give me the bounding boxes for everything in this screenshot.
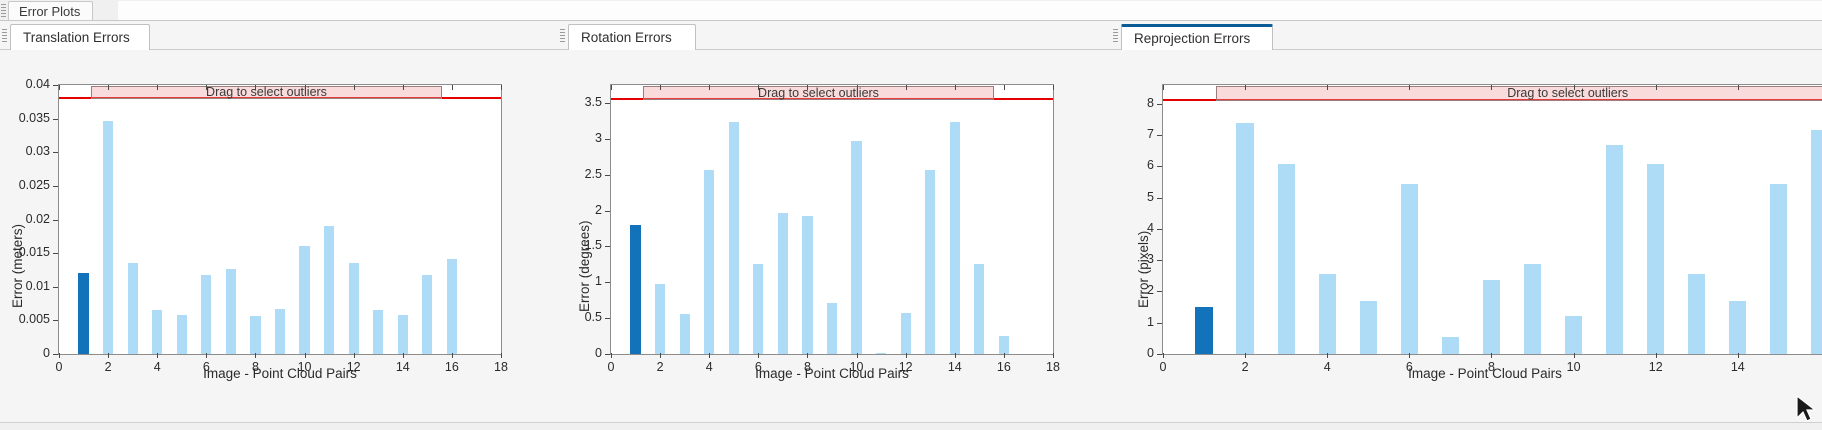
y-tick-mark xyxy=(605,175,610,176)
y-tick-mark xyxy=(1157,291,1162,292)
y-tick-mark xyxy=(53,253,58,254)
y-tick-label: 0 xyxy=(2,346,50,360)
y-tick-mark xyxy=(605,354,610,355)
x-tick-mark xyxy=(501,353,502,358)
y-tick-label: 1 xyxy=(1106,315,1154,329)
bar[interactable] xyxy=(177,315,187,354)
bar[interactable] xyxy=(1483,280,1500,354)
panel-translation-errors: Translation Errors Error (meters) Drag t… xyxy=(0,21,551,430)
tab-rotation-errors[interactable]: Rotation Errors xyxy=(568,24,696,50)
x-tick-mark xyxy=(857,353,858,358)
x-tick-mark-top xyxy=(1738,85,1739,90)
x-tick-mark xyxy=(59,353,60,358)
x-tick-mark-top xyxy=(1656,85,1657,90)
x-tick-mark-top xyxy=(1409,85,1410,90)
y-tick-label: 5 xyxy=(1106,190,1154,204)
plot-axes[interactable]: Drag to select outliers xyxy=(58,84,502,355)
x-tick-mark xyxy=(758,353,759,358)
y-tick-mark xyxy=(605,318,610,319)
bar[interactable] xyxy=(802,216,812,354)
plot-bars-area[interactable]: Drag to select outliers xyxy=(59,85,501,354)
y-tick-mark xyxy=(605,246,610,247)
y-tick-label: 2 xyxy=(1106,283,1154,297)
bar[interactable] xyxy=(827,303,837,354)
x-tick-mark xyxy=(403,353,404,358)
x-tick-mark-top xyxy=(857,85,858,90)
y-tick-label: 7 xyxy=(1106,127,1154,141)
x-tick-mark xyxy=(1574,353,1575,358)
x-tick-mark-top xyxy=(501,85,502,90)
bar[interactable] xyxy=(729,122,739,354)
bar[interactable] xyxy=(1524,264,1541,354)
grip-dots-icon[interactable] xyxy=(1113,29,1118,42)
x-tick-mark xyxy=(1053,353,1054,358)
x-tick-mark xyxy=(305,353,306,358)
bar[interactable] xyxy=(1565,316,1582,354)
y-tick-mark xyxy=(53,85,58,86)
x-tick-mark-top xyxy=(807,85,808,90)
x-tick-mark xyxy=(807,353,808,358)
x-tick-mark xyxy=(611,353,612,358)
tab-label: Reprojection Errors xyxy=(1134,32,1250,46)
bar[interactable] xyxy=(1401,184,1418,354)
x-tick-mark-top xyxy=(452,85,453,90)
bar[interactable] xyxy=(422,275,432,354)
y-axis-label: Error (degrees) xyxy=(577,220,592,312)
grip-dots-icon[interactable] xyxy=(560,29,565,42)
bar[interactable] xyxy=(1606,145,1623,354)
x-tick-mark-top xyxy=(660,85,661,90)
y-tick-label: 0.01 xyxy=(2,279,50,293)
y-tick-label: 8 xyxy=(1106,96,1154,110)
y-tick-label: 2 xyxy=(554,203,602,217)
tab-strip-reprojection: Reprojection Errors xyxy=(1103,21,1822,50)
x-tick-label: 2 xyxy=(1225,360,1265,374)
x-tick-mark-top xyxy=(206,85,207,90)
bar[interactable] xyxy=(974,264,984,354)
y-tick-mark xyxy=(53,152,58,153)
y-tick-mark xyxy=(1157,354,1162,355)
bar[interactable] xyxy=(152,310,162,354)
x-tick-mark-top xyxy=(709,85,710,90)
bar[interactable] xyxy=(1278,164,1295,354)
bar[interactable] xyxy=(876,353,886,354)
mouse-cursor-icon xyxy=(1794,394,1820,424)
x-axis-label: Image - Point Cloud Pairs xyxy=(1263,366,1707,381)
bar[interactable] xyxy=(447,259,457,354)
bar[interactable] xyxy=(704,170,714,354)
x-tick-mark-top xyxy=(1574,85,1575,90)
x-axis-label: Image - Point Cloud Pairs xyxy=(58,366,502,381)
bar[interactable] xyxy=(103,121,113,354)
y-tick-label: 0.03 xyxy=(2,144,50,158)
bar[interactable] xyxy=(1360,301,1377,354)
y-tick-label: 0.02 xyxy=(2,212,50,226)
y-tick-mark xyxy=(1157,323,1162,324)
bar[interactable] xyxy=(950,122,960,354)
y-tick-mark xyxy=(53,220,58,221)
y-tick-label: 1.5 xyxy=(554,238,602,252)
y-tick-mark xyxy=(1157,135,1162,136)
bar[interactable] xyxy=(349,263,359,354)
bar[interactable] xyxy=(1647,164,1664,354)
x-tick-mark-top xyxy=(403,85,404,90)
bar[interactable] xyxy=(324,226,334,354)
plot-axes[interactable]: Drag to select outliers xyxy=(610,84,1054,355)
y-tick-label: 0.005 xyxy=(2,312,50,326)
y-tick-label: 1 xyxy=(554,274,602,288)
y-tick-label: 3 xyxy=(554,131,602,145)
x-tick-mark xyxy=(354,353,355,358)
x-tick-mark xyxy=(255,353,256,358)
x-tick-mark xyxy=(206,353,207,358)
y-tick-label: 0.015 xyxy=(2,245,50,259)
x-tick-label: 0 xyxy=(1143,360,1183,374)
y-tick-label: 0 xyxy=(1106,346,1154,360)
error-plots-window: Error Plots Translation Errors Error (me… xyxy=(0,0,1822,430)
x-tick-mark-top xyxy=(59,85,60,90)
x-tick-mark xyxy=(452,353,453,358)
bar[interactable] xyxy=(1319,274,1336,354)
y-tick-label: 0.025 xyxy=(2,178,50,192)
bar[interactable] xyxy=(128,263,138,354)
drag-to-select-outliers-band[interactable]: Drag to select outliers xyxy=(1216,86,1822,101)
drag-to-select-outliers-band[interactable]: Drag to select outliers xyxy=(643,86,994,100)
y-tick-mark xyxy=(1157,166,1162,167)
bar[interactable] xyxy=(1770,184,1787,354)
grip-dots-icon[interactable] xyxy=(2,29,7,42)
panel-rotation-errors: Rotation Errors Error (degrees) Drag to … xyxy=(551,21,1103,430)
tab-label: Rotation Errors xyxy=(581,31,672,45)
bar[interactable] xyxy=(901,313,911,354)
bar[interactable] xyxy=(1236,123,1253,354)
bar[interactable] xyxy=(1811,130,1822,354)
y-tick-mark xyxy=(1157,260,1162,261)
y-tick-label: 3 xyxy=(1106,252,1154,266)
panel-reprojection-errors: Reprojection Errors Error (pixels) Drag … xyxy=(1103,21,1822,430)
bar[interactable] xyxy=(250,316,260,354)
x-tick-mark xyxy=(906,353,907,358)
bar[interactable] xyxy=(226,269,236,354)
bar[interactable] xyxy=(78,273,88,354)
y-tick-label: 4 xyxy=(1106,221,1154,235)
bar[interactable] xyxy=(299,246,309,354)
x-tick-mark-top xyxy=(1053,85,1054,90)
plot-bars-area[interactable]: Drag to select outliers xyxy=(1163,85,1822,354)
bar[interactable] xyxy=(201,275,211,354)
plot-axes[interactable]: Drag to select outliers xyxy=(1162,84,1822,355)
x-tick-mark-top xyxy=(906,85,907,90)
x-tick-mark xyxy=(108,353,109,358)
y-axis-label: Error (meters) xyxy=(10,224,25,308)
x-tick-label: 14 xyxy=(1718,360,1758,374)
plot-panels: Translation Errors Error (meters) Drag t… xyxy=(0,21,1822,430)
bar[interactable] xyxy=(373,310,383,354)
bar[interactable] xyxy=(275,309,285,354)
x-tick-mark xyxy=(1656,353,1657,358)
y-tick-label: 0.035 xyxy=(2,111,50,125)
y-tick-mark xyxy=(605,103,610,104)
x-tick-mark xyxy=(1738,353,1739,358)
y-tick-mark xyxy=(605,139,610,140)
x-tick-mark xyxy=(1245,353,1246,358)
x-tick-mark-top xyxy=(1163,85,1164,90)
y-tick-mark xyxy=(605,211,610,212)
bar[interactable] xyxy=(753,264,763,354)
y-tick-mark xyxy=(53,354,58,355)
bar[interactable] xyxy=(1729,301,1746,354)
tab-reprojection-errors[interactable]: Reprojection Errors xyxy=(1121,24,1273,50)
x-tick-mark-top xyxy=(305,85,306,90)
x-tick-mark-top xyxy=(758,85,759,90)
y-tick-label: 0.5 xyxy=(554,310,602,324)
x-tick-mark-top xyxy=(1245,85,1246,90)
bar[interactable] xyxy=(999,336,1009,354)
y-tick-mark xyxy=(53,119,58,120)
y-tick-mark xyxy=(1157,198,1162,199)
x-tick-mark-top xyxy=(1327,85,1328,90)
document-tab-label: Error Plots xyxy=(19,4,80,19)
y-tick-mark xyxy=(53,320,58,321)
plot-bars-area[interactable]: Drag to select outliers xyxy=(611,85,1053,354)
bar[interactable] xyxy=(655,284,665,354)
x-tick-mark-top xyxy=(611,85,612,90)
y-tick-label: 0 xyxy=(554,346,602,360)
y-tick-mark xyxy=(1157,229,1162,230)
x-tick-mark-top xyxy=(955,85,956,90)
x-tick-mark xyxy=(1163,353,1164,358)
x-tick-mark xyxy=(1491,353,1492,358)
bar[interactable] xyxy=(851,141,861,354)
grip-dots-icon[interactable] xyxy=(1,4,6,17)
chart-reprojection-errors: Error (pixels) Drag to select outliers 0… xyxy=(1103,50,1822,430)
x-tick-mark xyxy=(1004,353,1005,358)
bar[interactable] xyxy=(680,314,690,354)
x-tick-mark-top xyxy=(108,85,109,90)
outer-tab-strip-empty xyxy=(118,1,1822,21)
x-axis-label: Image - Point Cloud Pairs xyxy=(610,366,1054,381)
drag-to-select-outliers-band[interactable]: Drag to select outliers xyxy=(91,86,442,99)
x-tick-mark-top xyxy=(354,85,355,90)
tab-strip-rotation: Rotation Errors xyxy=(551,21,1103,50)
x-tick-mark xyxy=(709,353,710,358)
tab-label: Translation Errors xyxy=(23,31,130,45)
y-tick-mark xyxy=(605,282,610,283)
bar[interactable] xyxy=(925,170,935,354)
bar[interactable] xyxy=(630,225,640,354)
bar[interactable] xyxy=(1442,337,1459,354)
y-tick-label: 2.5 xyxy=(554,167,602,181)
bar[interactable] xyxy=(398,315,408,354)
y-tick-mark xyxy=(1157,104,1162,105)
bar[interactable] xyxy=(1688,274,1705,354)
y-tick-label: 0.04 xyxy=(2,77,50,91)
tab-strip-translation: Translation Errors xyxy=(0,21,551,50)
x-tick-mark-top xyxy=(157,85,158,90)
y-tick-label: 3.5 xyxy=(554,95,602,109)
document-tab-error-plots[interactable]: Error Plots xyxy=(8,1,93,21)
x-tick-mark xyxy=(660,353,661,358)
bar[interactable] xyxy=(1195,307,1212,354)
x-tick-mark xyxy=(955,353,956,358)
x-tick-mark xyxy=(157,353,158,358)
outer-tab-strip: Error Plots xyxy=(0,0,1822,21)
y-tick-mark xyxy=(53,287,58,288)
chart-translation-errors: Error (meters) Drag to select outliers 0… xyxy=(0,50,551,430)
x-tick-mark-top xyxy=(1491,85,1492,90)
chart-rotation-errors: Error (degrees) Drag to select outliers … xyxy=(551,50,1103,430)
tab-translation-errors[interactable]: Translation Errors xyxy=(10,24,150,50)
y-tick-label: 6 xyxy=(1106,158,1154,172)
bottom-status-strip xyxy=(0,422,1822,430)
x-tick-mark-top xyxy=(255,85,256,90)
y-tick-mark xyxy=(53,186,58,187)
x-tick-mark xyxy=(1409,353,1410,358)
x-tick-mark-top xyxy=(1004,85,1005,90)
bar[interactable] xyxy=(778,213,788,354)
x-tick-mark xyxy=(1327,353,1328,358)
